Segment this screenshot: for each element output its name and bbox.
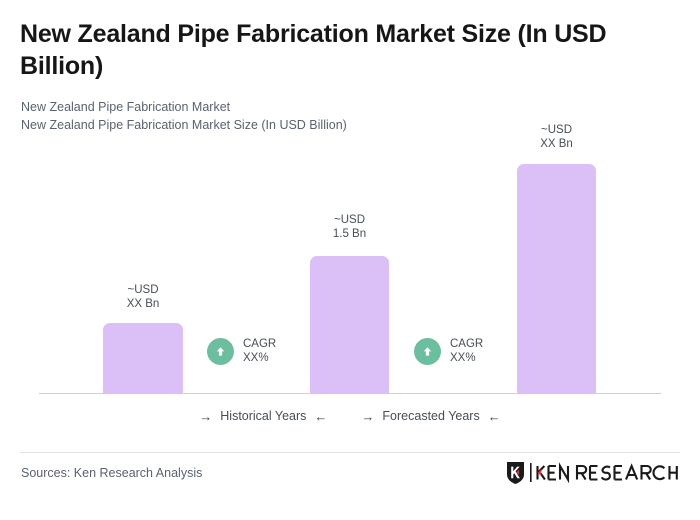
chart-plot-area: ~USD XX Bn CAGR XX% ~USD 1.5 Bn CAGR XX%	[0, 0, 700, 400]
period-historical-label: Historical Years	[220, 409, 306, 423]
cagr-badge-2: CAGR XX%	[414, 337, 483, 365]
sources-text: Sources: Ken Research Analysis	[21, 466, 202, 480]
arrow-right-icon: →	[361, 410, 374, 423]
bar-1	[103, 323, 183, 394]
arrow-up-icon	[207, 338, 234, 365]
period-forecasted: → Forecasted Years ←	[361, 409, 500, 423]
cagr-badge-1: CAGR XX%	[207, 337, 276, 365]
bar-2	[310, 256, 389, 394]
arrow-left-icon: ←	[314, 410, 327, 423]
arrow-left-icon: ←	[488, 410, 501, 423]
bar-3	[517, 164, 596, 394]
x-axis-line	[39, 393, 661, 394]
arrow-up-icon	[414, 338, 441, 365]
footer-divider	[20, 452, 680, 453]
bar-value-label-2: ~USD 1.5 Bn	[310, 213, 389, 241]
period-labels: → Historical Years ← → Forecasted Years …	[0, 409, 700, 423]
bar-value-label-1: ~USD XX Bn	[103, 283, 183, 311]
period-forecasted-label: Forecasted Years	[382, 409, 479, 423]
ken-research-wordmark	[530, 462, 678, 484]
chart-page: New Zealand Pipe Fabrication Market Size…	[0, 0, 700, 520]
bar-value-label-3: ~USD XX Bn	[517, 123, 596, 151]
cagr-label-2: CAGR XX%	[450, 337, 483, 365]
period-historical: → Historical Years ←	[199, 409, 327, 423]
ken-research-shield-icon	[506, 461, 525, 485]
arrow-right-icon: →	[199, 410, 212, 423]
ken-research-logo	[506, 461, 678, 485]
cagr-label-1: CAGR XX%	[243, 337, 276, 365]
